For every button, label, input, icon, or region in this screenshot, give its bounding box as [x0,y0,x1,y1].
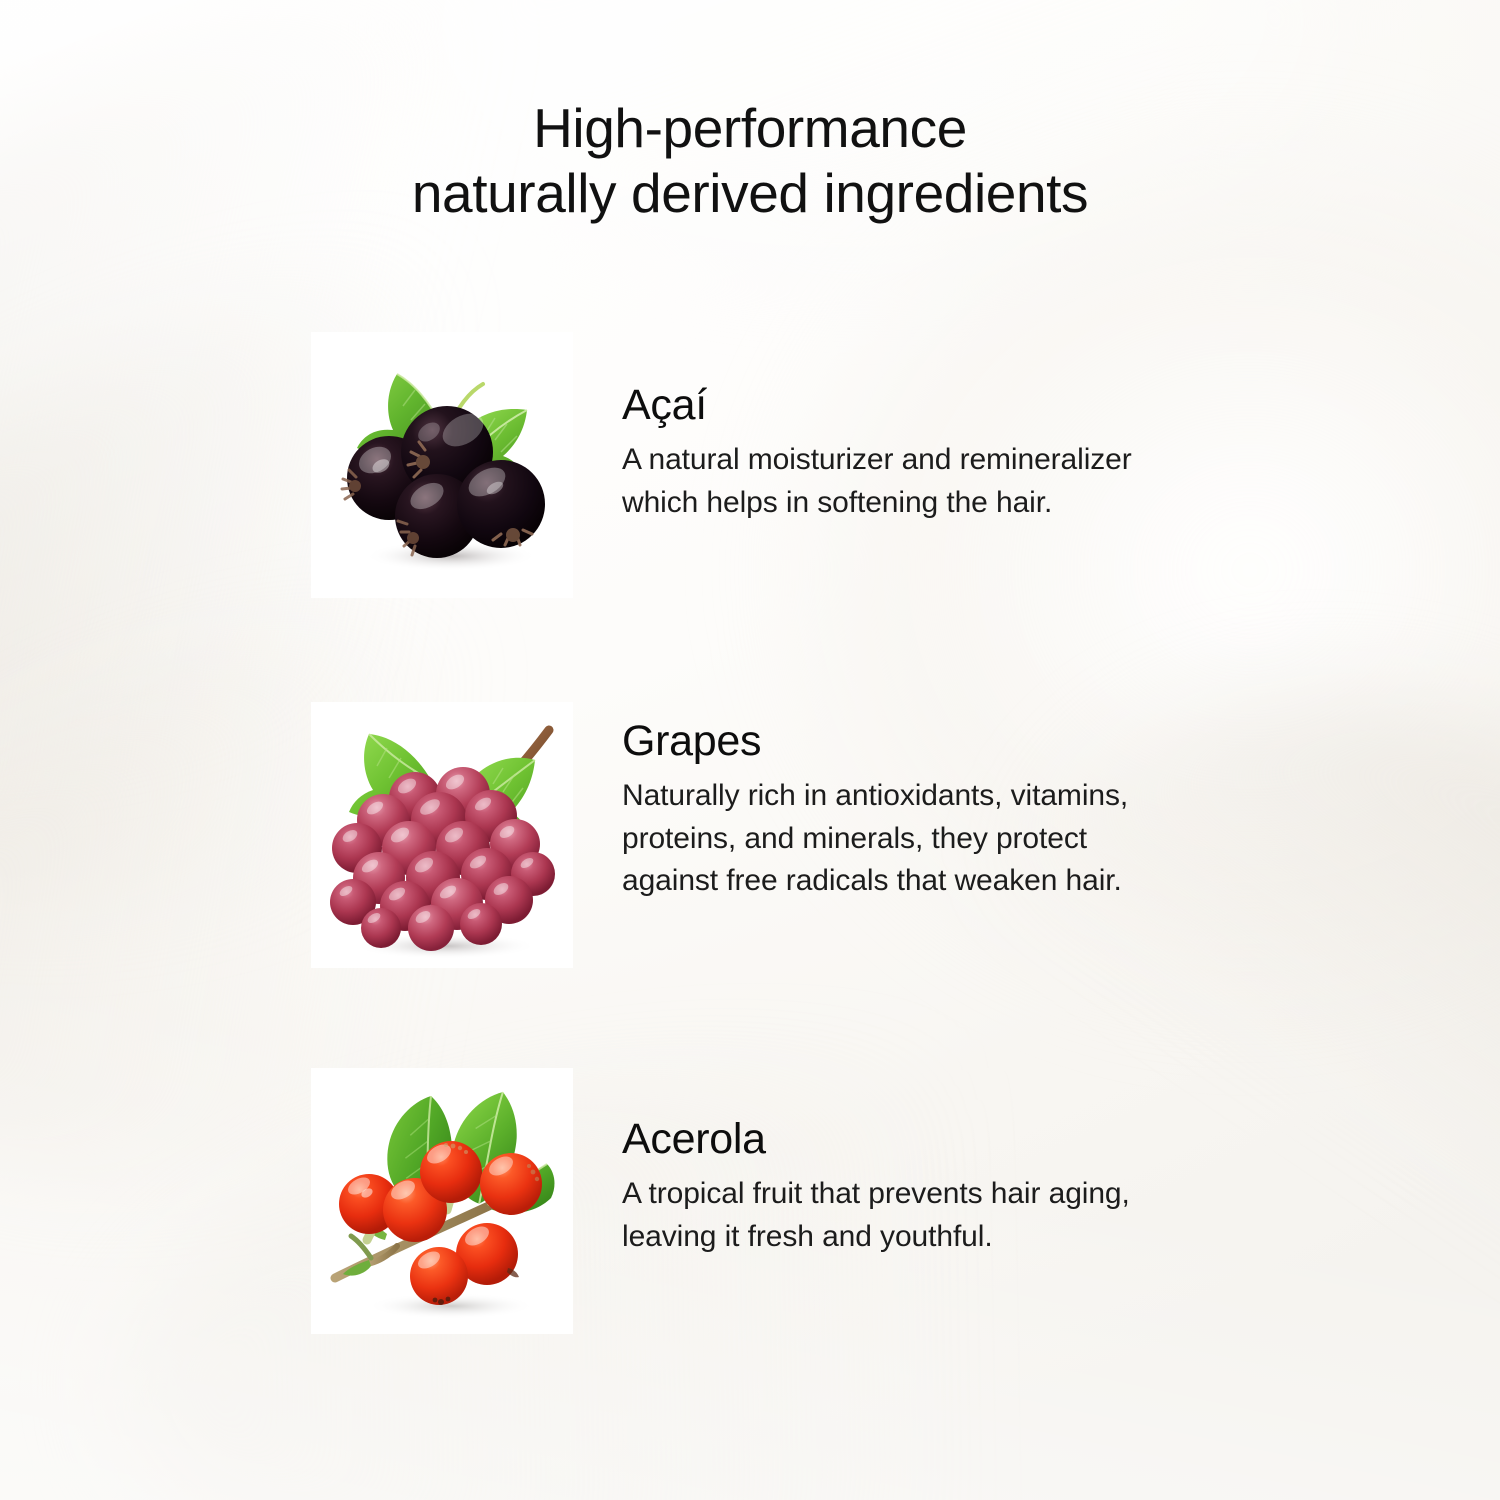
ingredient-item-grapes: Grapes Naturally rich in antioxidants, v… [0,702,1500,972]
acai-text-block: Açaí A natural moisturizer and remineral… [622,384,1282,524]
grapes-desc-line-2: proteins, and minerals, they protect [622,818,1282,861]
headline-line-1: High-performance [0,96,1500,161]
acerola-berries-icon [311,1068,573,1334]
grapes-cluster-icon [311,702,573,968]
acerola-desc-line-2: leaving it fresh and youthful. [622,1216,1282,1259]
grapes-image-tile [311,702,573,968]
ingredients-infographic: High-performance naturally derived ingre… [0,0,1500,1500]
grapes-desc-line-3: against free radicals that weaken hair. [622,860,1282,903]
ingredient-description-acerola: A tropical fruit that prevents hair agin… [622,1173,1282,1258]
ingredient-title-acerola: Acerola [622,1118,1282,1161]
acerola-image-tile [311,1068,573,1334]
acerola-text-block: Acerola A tropical fruit that prevents h… [622,1118,1282,1258]
ingredient-item-acerola: Acerola A tropical fruit that prevents h… [0,1068,1500,1338]
page-title: High-performance naturally derived ingre… [0,96,1500,227]
ingredient-description-acai: A natural moisturizer and remineralizer … [622,439,1282,524]
acai-desc-line-2: which helps in softening the hair. [622,482,1282,525]
ingredient-item-acai: Açaí A natural moisturizer and remineral… [0,332,1500,602]
grapes-desc-line-1: Naturally rich in antioxidants, vitamins… [622,775,1282,818]
acai-image-tile [311,332,573,598]
ingredient-description-grapes: Naturally rich in antioxidants, vitamins… [622,775,1282,903]
ingredient-title-grapes: Grapes [622,720,1282,763]
acai-berries-icon [311,332,573,598]
acerola-desc-line-1: A tropical fruit that prevents hair agin… [622,1173,1282,1216]
acai-desc-line-1: A natural moisturizer and remineralizer [622,439,1282,482]
ingredient-title-acai: Açaí [622,384,1282,427]
grapes-text-block: Grapes Naturally rich in antioxidants, v… [622,720,1282,903]
headline-line-2: naturally derived ingredients [0,161,1500,226]
